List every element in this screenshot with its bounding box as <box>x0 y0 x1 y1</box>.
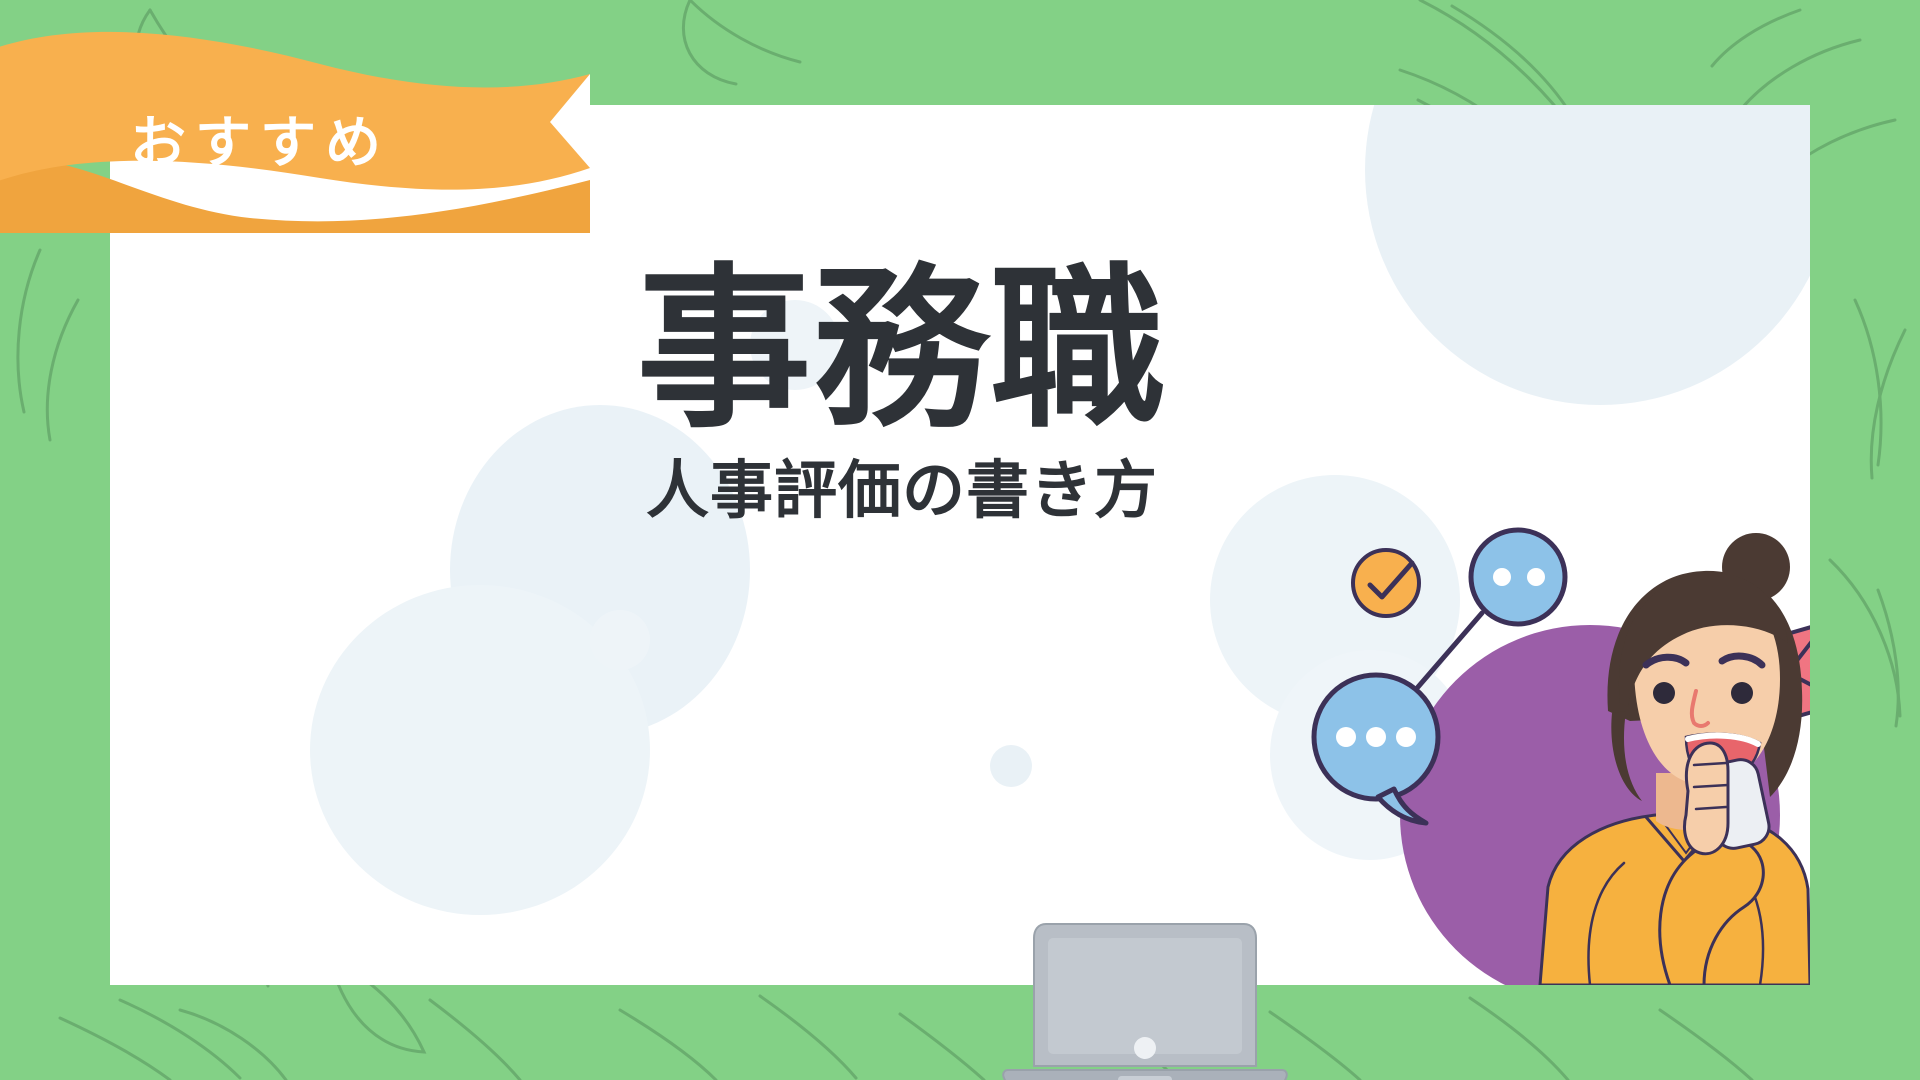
speech-bubble-small-icon <box>1471 530 1565 624</box>
star-icon <box>1700 613 1784 693</box>
envelope-icon <box>1703 625 1810 737</box>
content-card: 事務職 人事評価の書き方 <box>110 105 1810 985</box>
slide-canvas: 事務職 人事評価の書き方 <box>0 0 1920 1080</box>
decorative-blob <box>1270 650 1470 860</box>
decorative-blob <box>590 610 650 670</box>
woman-on-phone-icon <box>1540 533 1810 985</box>
decorative-blob <box>990 745 1032 787</box>
page-title: 事務職 <box>110 263 1752 438</box>
hand-with-phone <box>1685 743 1773 854</box>
page-subtitle: 人事評価の書き方 <box>110 460 1752 523</box>
